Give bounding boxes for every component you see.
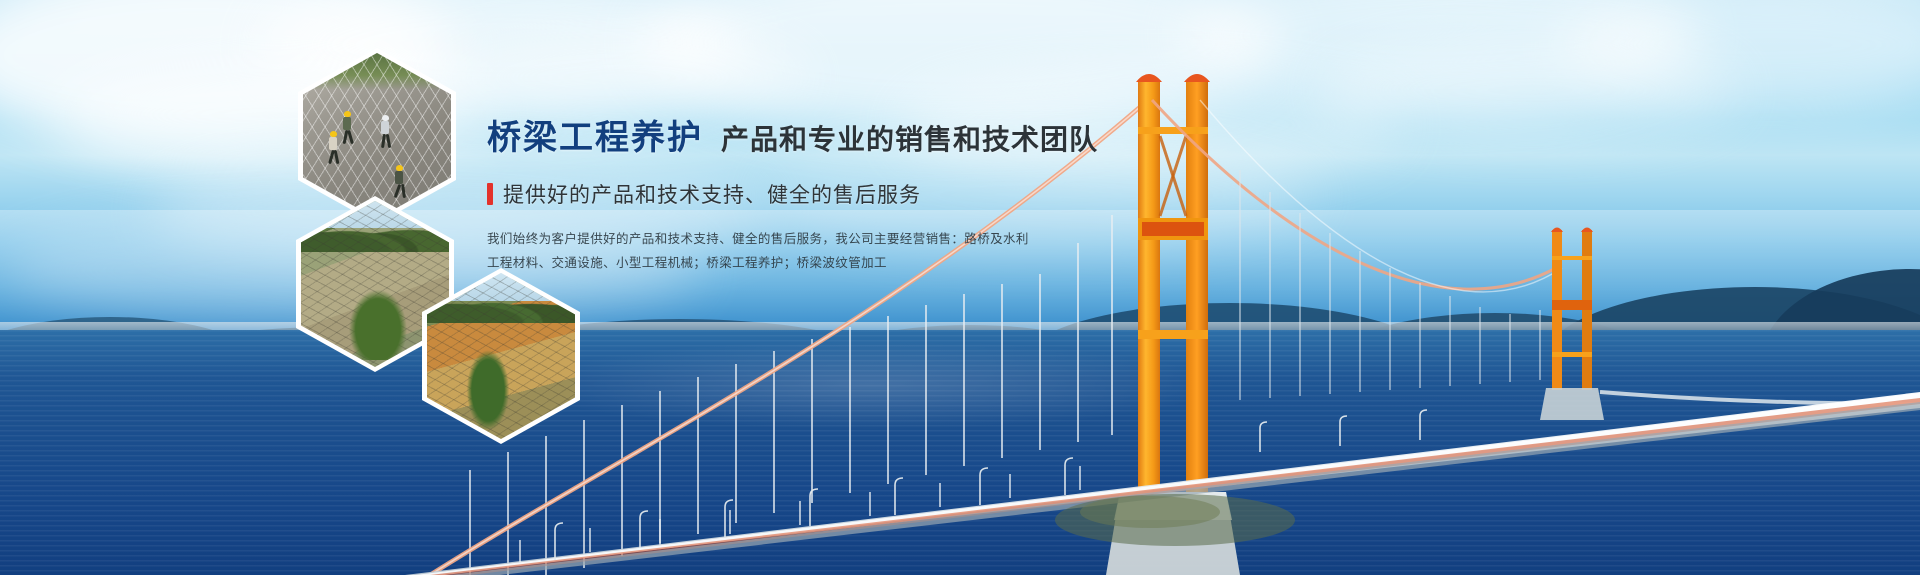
banner-subtitle-row: 提供好的产品和技术支持、健全的售后服务 bbox=[487, 179, 1127, 209]
photo-shrub bbox=[463, 343, 513, 429]
headline-secondary: 产品和专业的销售和技术团队 bbox=[721, 125, 1098, 156]
body-line: 工程材料、交通设施、小型工程机械；桥梁工程养护；桥梁波纹管加工 bbox=[487, 252, 1127, 275]
photo-earth-slope bbox=[427, 273, 575, 439]
banner-subtitle: 提供好的产品和技术支持、健全的售后服务 bbox=[503, 179, 921, 209]
hero-banner: 桥梁工程养护 产品和专业的销售和技术团队 提供好的产品和技术支持、健全的售后服务… bbox=[0, 0, 1920, 575]
banner-copy: 桥梁工程养护 产品和专业的销售和技术团队 提供好的产品和技术支持、健全的售后服务… bbox=[487, 120, 1127, 275]
photo-wire-mesh bbox=[303, 53, 451, 219]
accent-bar bbox=[487, 183, 493, 205]
photo-shrub bbox=[345, 284, 410, 360]
banner-body-text: 我们始终为客户提供好的产品和技术支持、健全的售后服务，我公司主要经营销售：路桥及… bbox=[487, 228, 1127, 274]
bridge-tower-far bbox=[1540, 228, 1604, 421]
headline-primary: 桥梁工程养护 bbox=[487, 120, 703, 157]
body-line: 我们始终为客户提供好的产品和技术支持、健全的售后服务，我公司主要经营销售：路桥及… bbox=[487, 228, 1127, 251]
banner-headline-row: 桥梁工程养护 产品和专业的销售和技术团队 bbox=[487, 120, 1127, 157]
photo-rock-face bbox=[303, 53, 451, 219]
